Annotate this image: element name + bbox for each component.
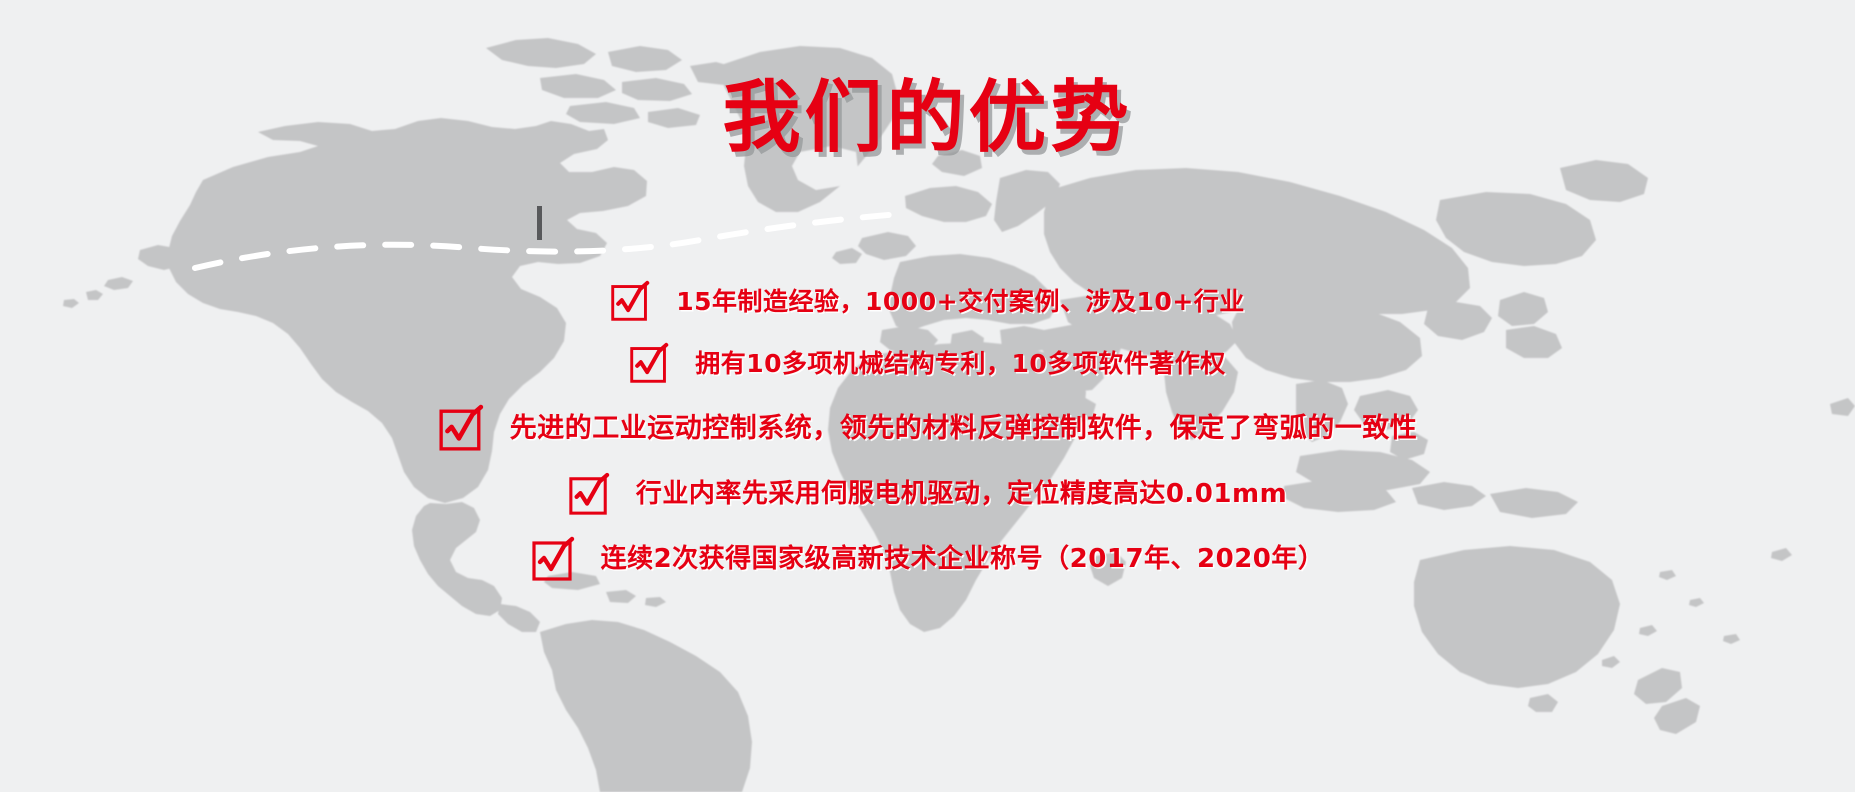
list-item-label: 先进的工业运动控制系统，领先的材料反弹控制软件，保定了弯弧的一致性 — [510, 413, 1418, 445]
headline-container: 我们的优势 — [0, 78, 1855, 160]
list-item: 行业内率先采用伺服电机驱动，定位精度高达0.01mm — [568, 474, 1287, 516]
list-item-label: 行业内率先采用伺服电机驱动，定位精度高达0.01mm — [636, 479, 1287, 510]
list-item-label: 15年制造经验，1000+交付案例、涉及10+行业 — [676, 287, 1245, 317]
list-item-label: 连续2次获得国家级高新技术企业称号（2017年、2020年） — [601, 544, 1325, 575]
list-item: 连续2次获得国家级高新技术企业称号（2017年、2020年） — [531, 538, 1325, 582]
list-item: 先进的工业运动控制系统，领先的材料反弹控制软件，保定了弯弧的一致性 — [438, 406, 1418, 452]
list-item-label: 拥有10多项机械结构专利，10多项软件著作权 — [695, 349, 1226, 379]
list-item: 15年制造经验，1000+交付案例、涉及10+行业 — [610, 282, 1245, 322]
checkbox-checked-icon — [629, 344, 669, 384]
checkbox-checked-icon — [568, 474, 610, 516]
banner-content: 我们的优势 15年制造经验，1000+交付案例、涉及10+行业 — [0, 0, 1855, 792]
checkbox-checked-icon — [531, 538, 575, 582]
list-item: 拥有10多项机械结构专利，10多项软件著作权 — [629, 344, 1226, 384]
page-title: 我们的优势 — [722, 78, 1132, 160]
checkbox-checked-icon — [610, 282, 650, 322]
advantages-list: 15年制造经验，1000+交付案例、涉及10+行业 拥有10多项机械结构专利，1… — [0, 282, 1855, 582]
checkbox-checked-icon — [438, 406, 484, 452]
advantages-banner: 我们的优势 15年制造经验，1000+交付案例、涉及10+行业 — [0, 0, 1855, 792]
